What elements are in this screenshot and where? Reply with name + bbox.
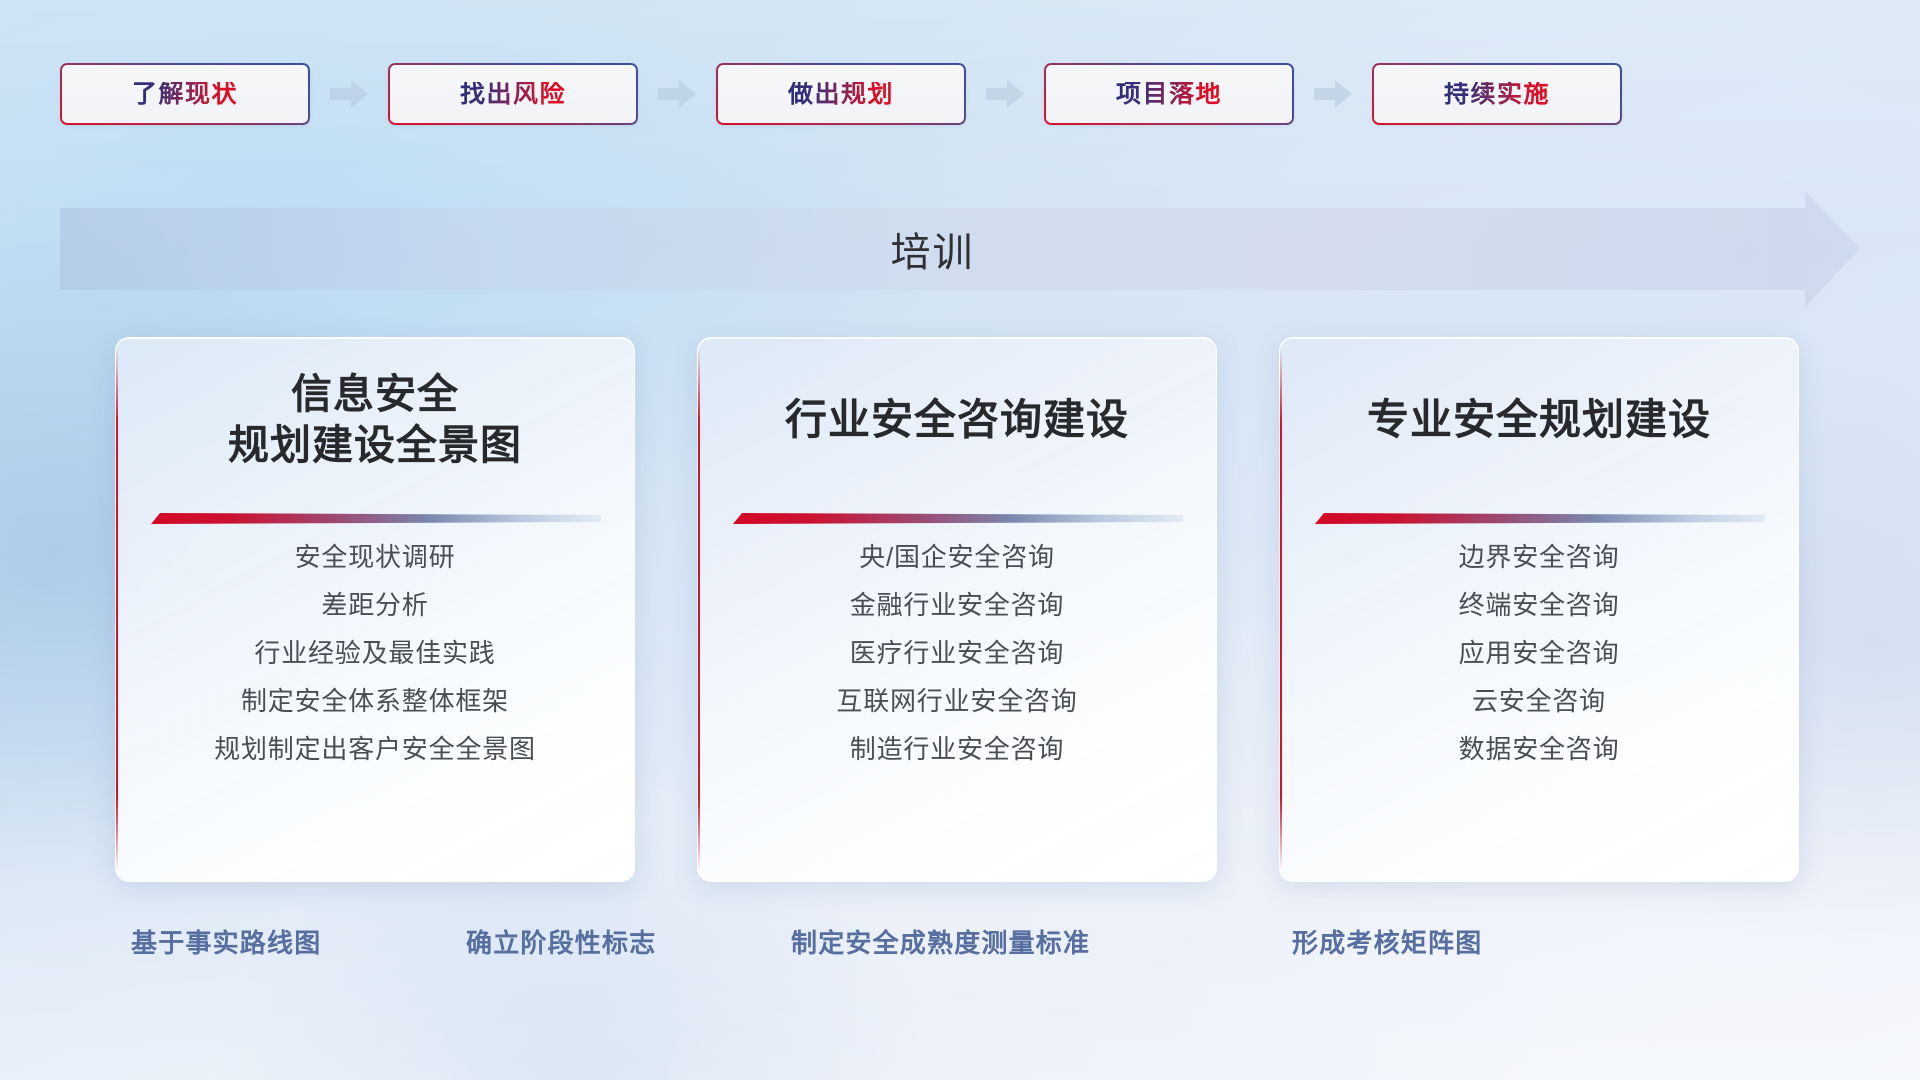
card-list-item: 云安全咨询 [1472, 687, 1606, 716]
process-step-2[interactable]: 做出规划 [716, 63, 966, 125]
arrow-right-icon [658, 79, 696, 109]
footer-label-1: 确立阶段性标志 [466, 920, 656, 962]
card-divider-bar [151, 511, 601, 526]
card-title-line: 专业安全规划建设 [1367, 394, 1711, 445]
card-list-item: 金融行业安全咨询 [850, 591, 1064, 620]
card-list-item: 医疗行业安全咨询 [850, 639, 1064, 668]
arrow-right-icon [330, 79, 368, 109]
card-item-list: 边界安全咨询 终端安全咨询 应用安全咨询 云安全咨询 数据安全咨询 [1280, 543, 1798, 765]
card-list-item: 边界安全咨询 [1459, 543, 1620, 572]
card-list-item: 互联网行业安全咨询 [836, 687, 1077, 716]
card-item-list: 安全现状调研 差距分析 行业经验及最佳实践 制定安全体系整体框架 规划制定出客户… [116, 543, 634, 765]
arrow-right-icon [986, 79, 1024, 109]
card-list-item: 制定安全体系整体框架 [241, 687, 509, 716]
card-list-item: 行业经验及最佳实践 [254, 639, 495, 668]
process-step-1[interactable]: 找出风险 [388, 63, 638, 125]
card-list-item: 制造行业安全咨询 [850, 735, 1064, 764]
training-banner-arrow-tip [1805, 191, 1860, 307]
training-banner-label: 培训 [60, 208, 1805, 290]
arrow-right-icon [1314, 79, 1352, 109]
card-title-line: 行业安全咨询建设 [785, 394, 1129, 445]
card-list-item: 数据安全咨询 [1459, 735, 1620, 764]
card-title-line: 规划建设全景图 [228, 420, 522, 470]
card-title: 行业安全咨询建设 [698, 338, 1216, 501]
card-title-line: 信息安全 [291, 369, 459, 419]
service-card-0[interactable]: 信息安全 规划建设全景图 安全现状调研 差 [115, 337, 635, 882]
card-item-list: 央/国企安全咨询 金融行业安全咨询 医疗行业安全咨询 互联网行业安全咨询 制造行… [698, 543, 1216, 765]
card-list-item: 差距分析 [321, 591, 428, 620]
process-step-0[interactable]: 了解现状 [60, 63, 310, 125]
service-card-1[interactable]: 行业安全咨询建设 央/国企安全咨询 金融行业安全咨询 [697, 337, 1217, 882]
card-list-item: 安全现状调研 [295, 543, 456, 572]
card-title: 专业安全规划建设 [1280, 338, 1798, 501]
card-list-item: 终端安全咨询 [1459, 591, 1620, 620]
process-step-4[interactable]: 持续实施 [1372, 63, 1622, 125]
card-list-item: 规划制定出客户安全全景图 [214, 735, 536, 764]
card-row: 信息安全 规划建设全景图 安全现状调研 差 [0, 337, 1920, 882]
footer-label-0: 基于事实路线图 [131, 920, 321, 962]
card-title: 信息安全 规划建设全景图 [116, 338, 634, 501]
process-step-label: 项目落地 [1116, 82, 1222, 107]
footer-label-row: 基于事实路线图 确立阶段性标志 制定安全成熟度测量标准 形成考核矩阵图 [0, 920, 1920, 974]
card-list-item: 应用安全咨询 [1459, 639, 1620, 668]
service-card-2[interactable]: 专业安全规划建设 边界安全咨询 终端安全咨询 [1279, 337, 1799, 882]
process-step-3[interactable]: 项目落地 [1044, 63, 1294, 125]
training-banner: 培训 [60, 208, 1860, 290]
card-divider-bar [1315, 511, 1765, 526]
process-step-label: 找出风险 [460, 82, 566, 107]
footer-label-3: 形成考核矩阵图 [1292, 920, 1482, 962]
card-list-item: 央/国企安全咨询 [859, 543, 1055, 572]
card-divider-bar [733, 511, 1183, 526]
process-step-label: 了解现状 [132, 82, 238, 107]
process-step-label: 持续实施 [1444, 82, 1550, 107]
process-step-label: 做出规划 [788, 82, 894, 107]
footer-label-2: 制定安全成熟度测量标准 [791, 920, 1090, 962]
process-step-row: 了解现状 找出风险 做出规划 项目落地 持续实施 [60, 63, 1860, 125]
